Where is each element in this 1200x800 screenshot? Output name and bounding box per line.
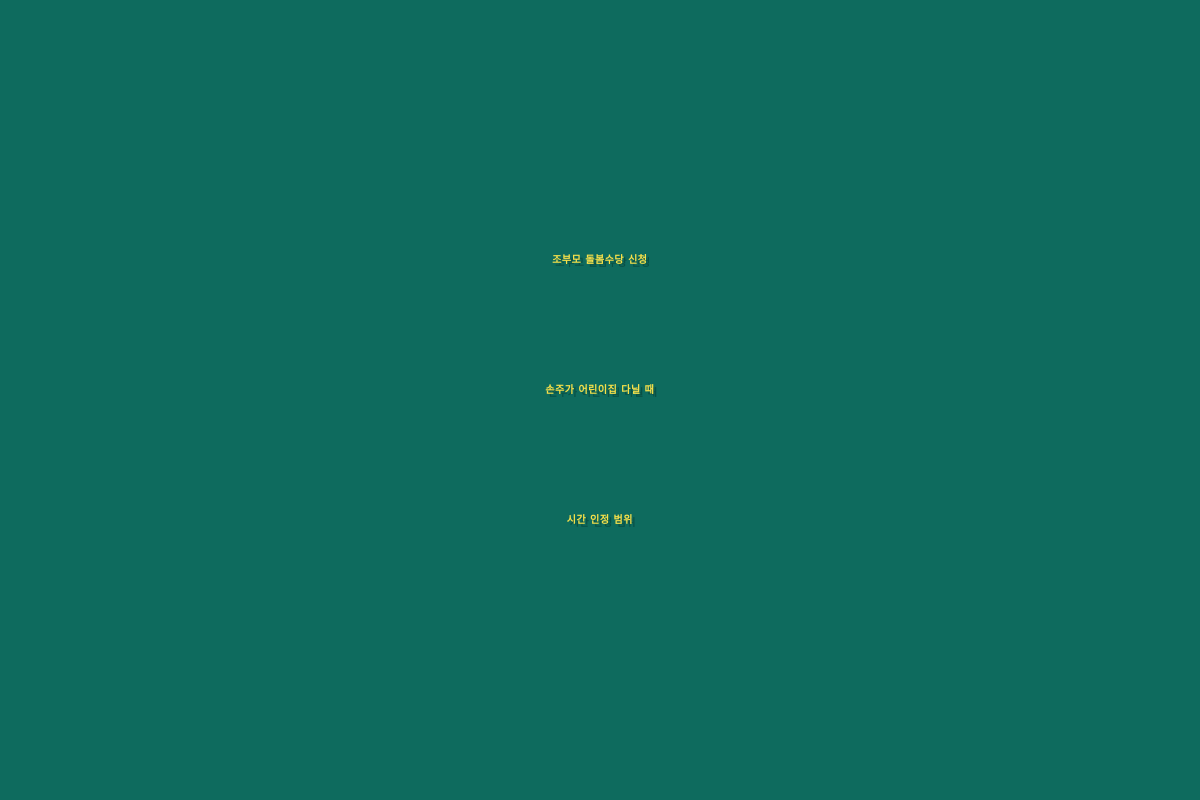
headline-line-2: 손주가 어린이집 다닐 때 bbox=[0, 326, 1200, 456]
headline-line-1: 조부모 돌봄수당 신청 bbox=[0, 196, 1200, 326]
headline-line-3: 시간 인정 범위 bbox=[0, 456, 1200, 586]
headline-block: 조부모 돌봄수당 신청 손주가 어린이집 다닐 때 시간 인정 범위 bbox=[0, 196, 1200, 586]
thumbnail-card: 조부모 돌봄수당 신청 손주가 어린이집 다닐 때 시간 인정 범위 bbox=[0, 0, 1200, 800]
